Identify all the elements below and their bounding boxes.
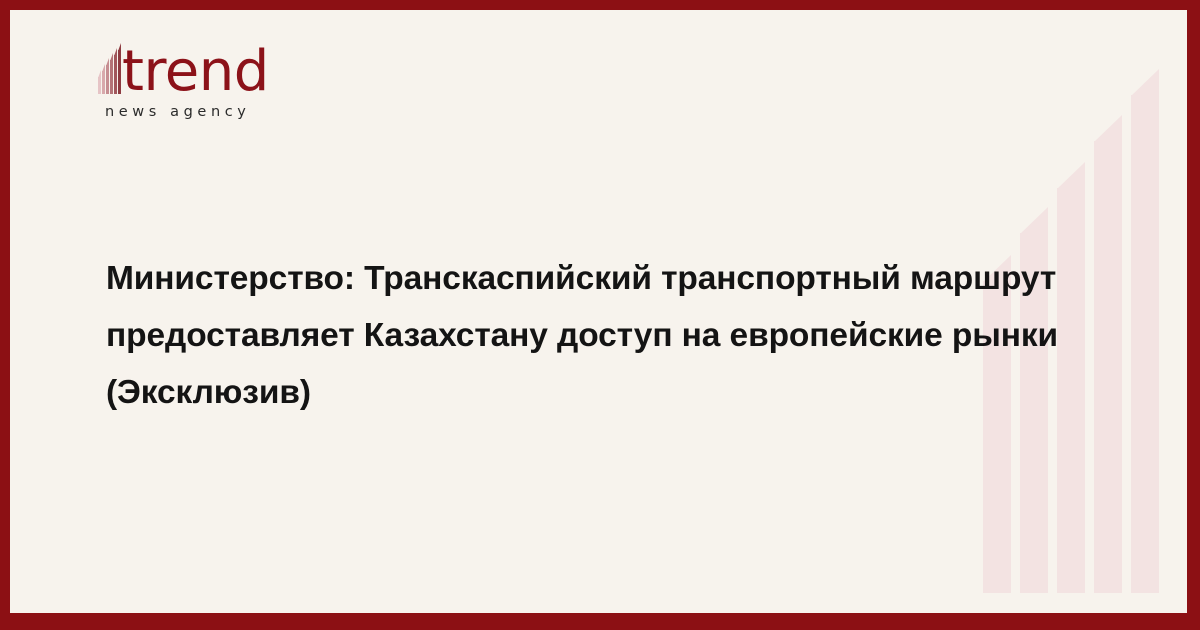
logo-mark-bar [102,71,105,94]
article-headline: Министерство: Транскаспийский транспортн… [106,250,1066,421]
trend-bars-icon [98,48,121,94]
logo-tagline: news agency [105,104,338,120]
deco-bar [1131,95,1159,593]
logo-wordmark: trend [122,48,269,96]
logo-mark-bar [106,65,109,94]
deco-bar [1094,141,1122,593]
share-card: trend news agency Министерство: Транскас… [0,0,1200,630]
trend-logo[interactable]: trend news agency [98,40,338,120]
logo-lockup: trend [98,40,338,96]
logo-mark-bar [98,77,101,94]
logo-mark-bar [118,50,121,94]
logo-mark-bar [114,55,117,94]
card-canvas: trend news agency Министерство: Транскас… [10,10,1187,613]
logo-mark-bar [110,60,113,94]
